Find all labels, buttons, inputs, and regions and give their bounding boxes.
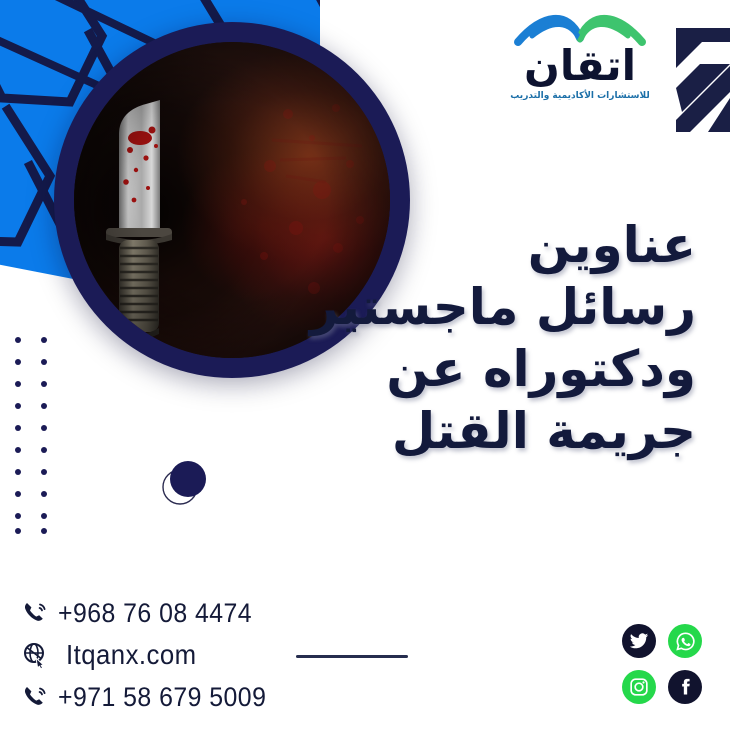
- contact-row-phone-2[interactable]: +971 58 679 5009: [18, 676, 318, 718]
- globe-cursor-icon: [18, 638, 52, 672]
- contact-row-website[interactable]: Itqanx.com: [18, 634, 318, 676]
- page-title: عناوين رسائل ماجستير ودكتوراه عن جريمة ا…: [296, 214, 696, 462]
- headline-line-2: رسائل ماجستير: [296, 276, 696, 338]
- brand-logo[interactable]: اتقان للاستشارات الأكاديمية والتدريب: [500, 8, 660, 114]
- whatsapp-icon[interactable]: [668, 624, 702, 658]
- poster-canvas: اتقان للاستشارات الأكاديمية والتدريب عنا…: [0, 0, 730, 730]
- social-links: [622, 624, 714, 716]
- instagram-icon[interactable]: [622, 670, 656, 704]
- logo-wordmark: اتقان: [500, 42, 660, 90]
- logo-tagline: للاستشارات الأكاديمية والتدريب: [500, 90, 660, 102]
- website-url: Itqanx.com: [66, 639, 197, 671]
- contact-row-phone-1[interactable]: +968 76 08 4474: [18, 592, 318, 634]
- phone-ringing-icon: [18, 680, 52, 714]
- facebook-icon[interactable]: [668, 670, 702, 704]
- dot-grid-decor: [14, 334, 52, 534]
- headline-line-4: جريمة القتل: [296, 400, 696, 462]
- headline-line-3: ودكتوراه عن: [296, 338, 696, 400]
- phone-ringing-icon: [18, 596, 52, 630]
- twitter-icon[interactable]: [622, 624, 656, 658]
- diagonal-stripes-decor: [676, 28, 730, 132]
- phone-number-2: +971 58 679 5009: [58, 682, 266, 713]
- phone-number-1: +968 76 08 4474: [58, 598, 252, 629]
- headline-line-1: عناوين: [296, 214, 696, 276]
- contact-block: +968 76 08 4474 Itqanx.com: [18, 592, 318, 718]
- circle-motif-decor: [158, 455, 214, 507]
